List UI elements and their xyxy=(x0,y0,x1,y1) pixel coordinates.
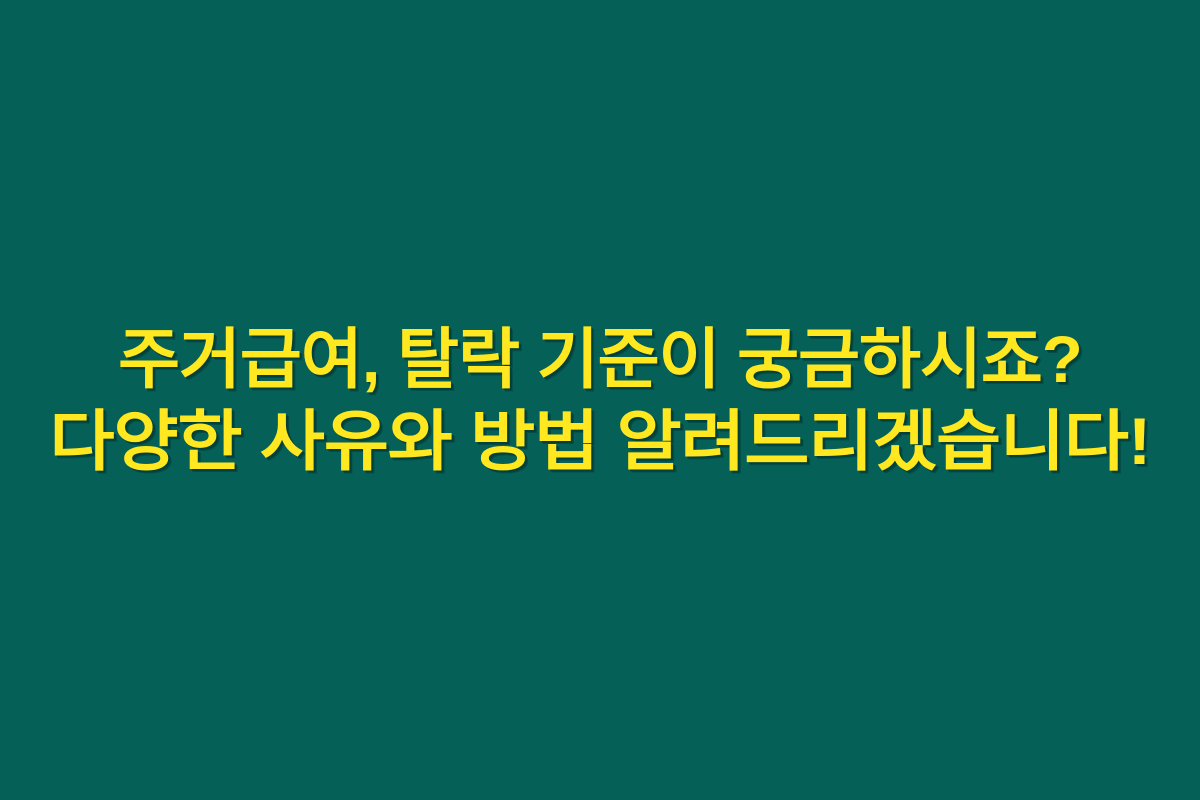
headline-line-2: 다양한 사유와 방법 알려드리겠습니다! xyxy=(0,408,1200,474)
headline-line-1: 주거급여, 탈락 기준이 궁금하시죠? xyxy=(0,326,1200,392)
promo-banner: 주거급여, 탈락 기준이 궁금하시죠? 다양한 사유와 방법 알려드리겠습니다! xyxy=(0,0,1200,800)
headline-block: 주거급여, 탈락 기준이 궁금하시죠? 다양한 사유와 방법 알려드리겠습니다! xyxy=(0,0,1200,800)
